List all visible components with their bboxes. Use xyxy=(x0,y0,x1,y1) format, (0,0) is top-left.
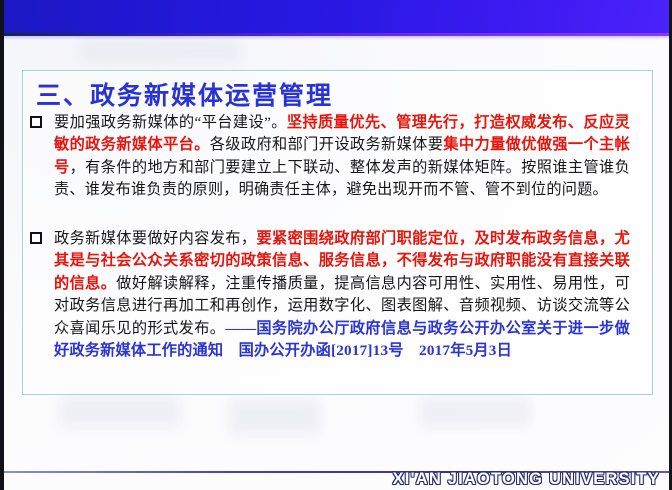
background-artifact xyxy=(420,398,530,426)
background-artifact xyxy=(80,40,240,62)
hollow-square-bullet-icon xyxy=(30,232,42,244)
slide-title: 三、政务新媒体运营管理 xyxy=(36,76,333,112)
bullet-item-2: 政务新媒体要做好内容发布，要紧密围绕政府部门职能定位，及时发布政务信息，尤其是与… xyxy=(30,228,630,362)
hollow-square-bullet-icon xyxy=(30,116,42,128)
bullet-1-seg-3: 各级政府和部门开设政务新媒体要 xyxy=(210,136,444,153)
top-gradient-banner xyxy=(0,0,672,33)
presentation-slide: 三、政务新媒体运营管理 要加强政务新媒体的“平台建设”。坚持质量优先、管理先行，… xyxy=(0,0,672,490)
background-artifact xyxy=(230,400,320,434)
bullet-1-seg-1: 要加强政务新媒体的“平台建设”。 xyxy=(54,114,287,131)
university-brand-text: XI'AN JIAOTONG UNIVERSITY xyxy=(393,470,660,489)
bullet-2-text: 政务新媒体要做好内容发布，要紧密围绕政府部门职能定位，及时发布政务信息，尤其是与… xyxy=(54,228,630,362)
bullet-1-seg-5: ，有条件的地方和部门要建立上下联动、整体发声的新媒体矩阵。按照谁主管谁负责、谁发… xyxy=(54,159,630,198)
background-artifact xyxy=(60,396,180,426)
player-left-edge xyxy=(0,0,4,490)
top-banner-glow xyxy=(0,36,672,40)
bullet-1-text: 要加强政务新媒体的“平台建设”。坚持质量优先、管理先行，打造权威发布、反应灵敏的… xyxy=(54,112,630,202)
bullet-2-seg-1: 政务新媒体要做好内容发布， xyxy=(54,230,256,247)
bullet-item-1: 要加强政务新媒体的“平台建设”。坚持质量优先、管理先行，打造权威发布、反应灵敏的… xyxy=(30,112,630,202)
